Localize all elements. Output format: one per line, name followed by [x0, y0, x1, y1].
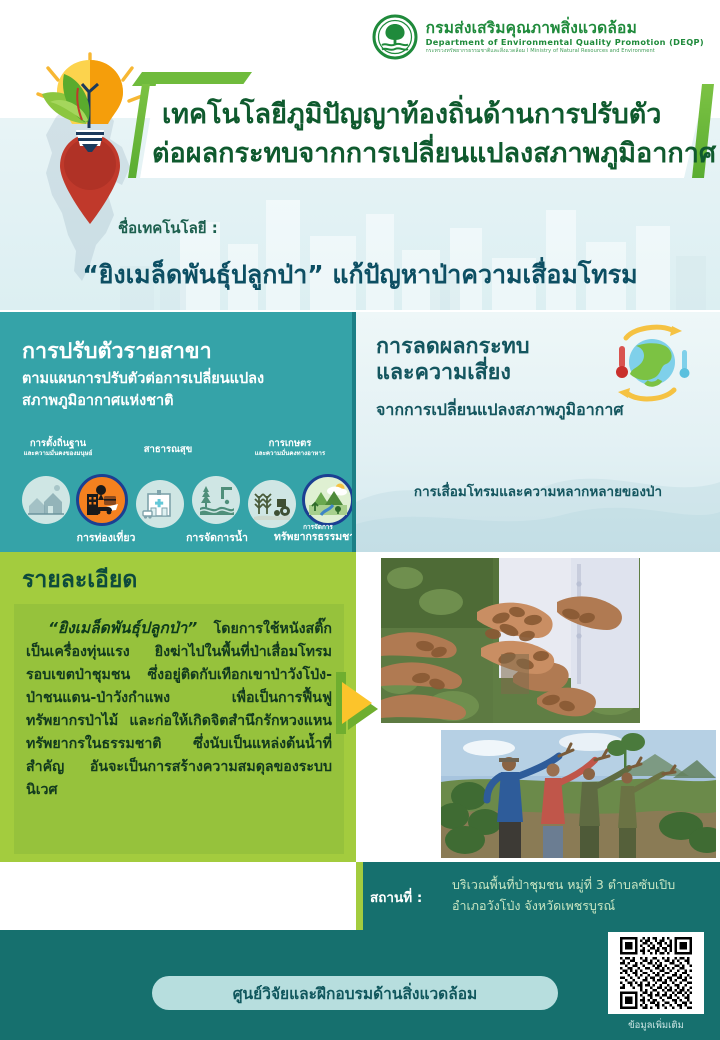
location-value: บริเวณพื้นที่ป่าชุมชน หมู่ที่ 3 ตำบลซับเ…: [452, 874, 712, 917]
details-bottom-spacer: [0, 862, 356, 930]
mitigation-panel: การลดผลกระทบ และความเสี่ยง จากการเปลี่ยน…: [356, 312, 720, 552]
location-label: สถานที่ :: [370, 886, 422, 908]
adaptation-panel: การปรับตัวรายสาขา ตามแผนการปรับตัวต่อการ…: [0, 312, 356, 552]
settlement-houses-icon: [26, 480, 66, 520]
poster-header: กรมส่งเสริมคุณภาพสิ่งแวดล้อม Department …: [0, 0, 720, 310]
adaptation-subheading-line1: ตามแผนการปรับตัวต่อการเปลี่ยนแปลง: [22, 368, 342, 390]
footer-center-pill: ศูนย์วิจัยและฝึกอบรมด้านสิ่งแวดล้อม: [152, 976, 558, 1010]
mitigation-heading: การลดผลกระทบ และความเสี่ยง: [376, 334, 529, 386]
qr-caption: ข้อมูลเพิ่มเติม: [608, 1018, 704, 1033]
water-management-icon: [196, 480, 236, 520]
mitigation-heading-line2: และความเสี่ยง: [376, 360, 529, 386]
details-heading: รายละเอียด: [22, 562, 137, 598]
org-name-en: Department of Environmental Quality Prom…: [426, 38, 704, 47]
seeds-in-hands-illustration: [381, 558, 640, 723]
qr-code-icon: [613, 937, 699, 1009]
mitigation-note: การเสื่อมโทรมและความหลากหลายของป่า: [356, 480, 720, 502]
location-line1: บริเวณพื้นที่ป่าชุมชน หมู่ที่ 3 ตำบลซับเ…: [452, 874, 712, 895]
technology-name: “ยิงเมล็ดพันธุ์ปลูกป่า” แก้ปัญหาป่าความเ…: [0, 255, 720, 295]
sector-icons-row: การตั้งถิ่นฐาน และความมั่นคงของมนุษย์ สา…: [8, 440, 352, 544]
sector-icon-agriculture[interactable]: [248, 480, 296, 528]
strategy-band: การปรับตัวรายสาขา ตามแผนการปรับตัวต่อการ…: [0, 312, 720, 552]
poster-title-line1: เทคโนโลยีภูมิปัญญาท้องถิ่นด้านการปรับตัว: [162, 92, 661, 135]
deqp-logo: กรมส่งเสริมคุณภาพสิ่งแวดล้อม Department …: [372, 14, 704, 60]
qr-code-box[interactable]: [608, 932, 704, 1014]
poster-title-line2: ต่อผลกระทบจากการเปลี่ยนแปลงสภาพภูมิอากาศ: [152, 131, 716, 174]
ribbon-tail-decoration: [132, 72, 252, 86]
sector-label-settlement: การตั้งถิ่นฐาน และความมั่นคงของมนุษย์: [4, 438, 112, 458]
hands-holding-seeds-photo: [381, 558, 640, 723]
details-body: “ยิงเมล็ดพันธุ์ปลูกป่า” โดยการใช้หนังสติ…: [14, 604, 344, 854]
sector-label-water-management: การจัดการน้ำ: [164, 532, 270, 544]
details-panel: รายละเอียด “ยิงเมล็ดพันธุ์ปลูกป่า” โดยกา…: [0, 552, 356, 862]
seed-shooting-illustration: [441, 730, 716, 858]
details-lead: “ยิงเมล็ดพันธุ์ปลูกป่า”: [48, 619, 197, 637]
location-line2: อำเภอวังโป่ง จังหวัดเพชรบูรณ์: [452, 895, 712, 916]
location-band: สถานที่ : บริเวณพื้นที่ป่าชุมชน หมู่ที่ …: [356, 862, 720, 930]
natural-resources-landscape-icon: [307, 479, 349, 521]
sector-label-tourism: การท่องเที่ยว: [54, 532, 158, 544]
sector-icon-tourism[interactable]: [78, 476, 126, 524]
sector-icon-water-management[interactable]: [192, 476, 240, 524]
mitigation-heading-line1: การลดผลกระทบ: [376, 334, 529, 360]
footer-center-name: ศูนย์วิจัยและฝึกอบรมด้านสิ่งแวดล้อม: [233, 981, 478, 1006]
sector-icon-public-health[interactable]: [136, 480, 184, 528]
globe-thermometer-recycle-icon: [602, 324, 698, 406]
sector-icon-natural-resources[interactable]: [304, 476, 352, 524]
mitigation-subheading: จากการเปลี่ยนแปลงสภาพภูมิอากาศ: [376, 398, 624, 423]
adaptation-subheading: ตามแผนการปรับตัวต่อการเปลี่ยนแปลง สภาพภู…: [22, 368, 342, 413]
technology-label: ชื่อเทคโนโลยี :: [118, 216, 218, 240]
sector-icon-settlement[interactable]: [22, 476, 70, 524]
adaptation-subheading-line2: สภาพภูมิอากาศแห่งชาติ: [22, 390, 342, 412]
sector-label-agriculture: การเกษตร และความมั่นคงทางอาหาร: [234, 438, 346, 458]
location-accent-bar: [356, 862, 363, 930]
details-paragraph: “ยิงเมล็ดพันธุ์ปลูกป่า” โดยการใช้หนังสติ…: [26, 616, 332, 802]
org-ministry: กระทรวงทรัพยากรธรรมชาติและสิ่งแวดล้อม I …: [426, 49, 704, 54]
public-health-hospital-icon: [140, 484, 180, 524]
org-name-th: กรมส่งเสริมคุณภาพสิ่งแวดล้อม: [426, 20, 704, 36]
details-text: โดยการใช้หนังสติ๊กเป็นเครื่องทุ่นแรง ยิง…: [26, 621, 332, 798]
tourism-city-travel-icon: [82, 480, 122, 520]
agriculture-crops-tractor-icon: [252, 484, 292, 524]
adaptation-heading: การปรับตัวรายสาขา: [22, 334, 212, 368]
deqp-seal-icon: [372, 14, 418, 60]
villagers-shooting-seeds-photo: [441, 730, 716, 858]
sector-label-public-health: สาธารณสุข: [116, 444, 220, 455]
